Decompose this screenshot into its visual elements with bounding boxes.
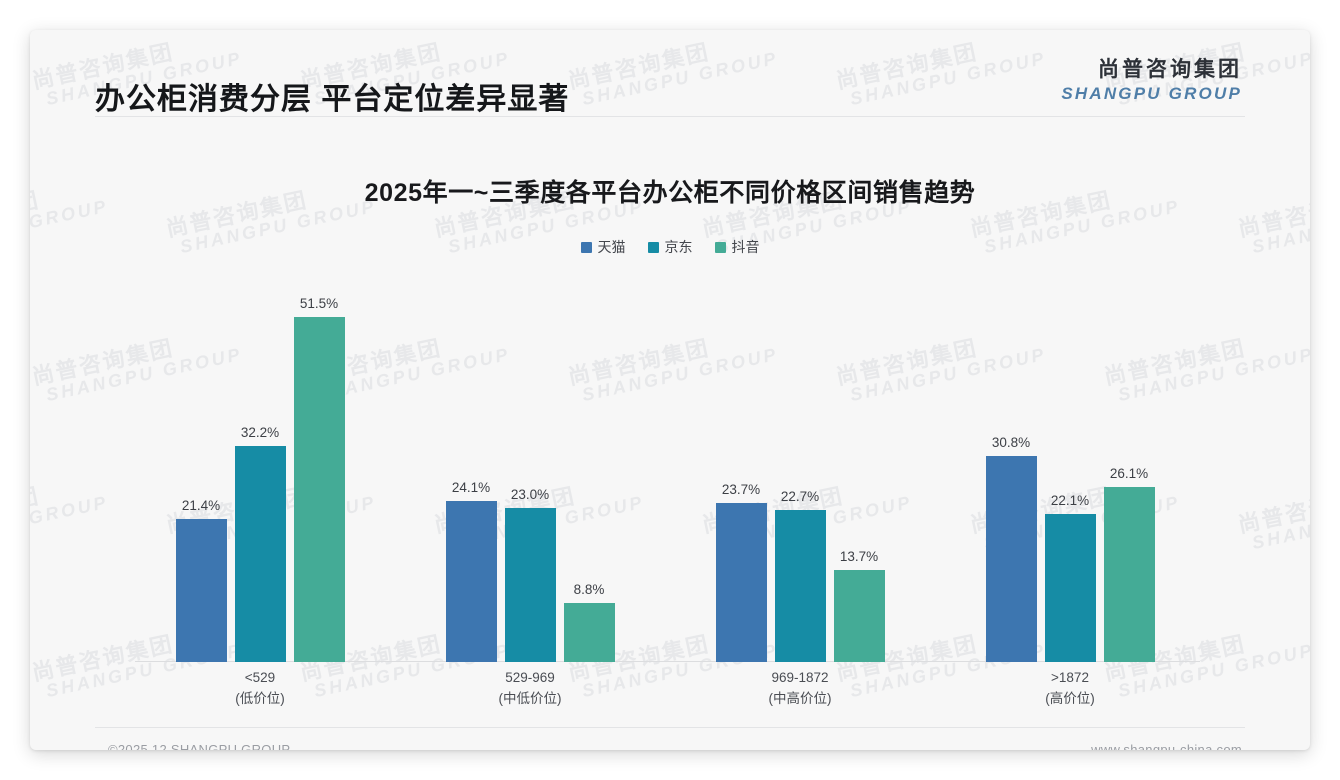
legend-label: 天猫: [598, 240, 626, 254]
chart-legend: 天猫京东抖音: [30, 240, 1310, 254]
bar-天猫[interactable]: [446, 501, 497, 663]
x-axis-label-sub: (中高价位): [665, 689, 935, 710]
bar-value-label: 26.1%: [1110, 466, 1148, 481]
x-axis-label-main: 969-1872: [771, 670, 828, 685]
x-axis-labels: <529(低价位)529-969(中低价位)969-1872(中高价位)>187…: [125, 668, 1205, 710]
bar-column[interactable]: 26.1%: [1104, 280, 1155, 662]
bar-column[interactable]: 23.7%: [716, 280, 767, 662]
x-axis-label-main: <529: [245, 670, 275, 685]
watermark-text: 尚普咨询集团SHANGPU GROUP: [1236, 470, 1310, 555]
bar-group-bars: 24.1%23.0%8.8%: [395, 280, 665, 662]
bar-column[interactable]: 24.1%: [446, 280, 497, 662]
bar-京东[interactable]: [1045, 514, 1096, 662]
legend-item-抖音[interactable]: 抖音: [715, 240, 760, 254]
slide-footer: ©2025.12 SHANGPU GROUP www.shangpu-china…: [30, 736, 1310, 750]
bar-column[interactable]: 21.4%: [176, 280, 227, 662]
header-divider: [95, 116, 1245, 117]
brand-name-en: SHANGPU GROUP: [1061, 84, 1242, 103]
bar-value-label: 13.7%: [840, 549, 878, 564]
footer-copyright: ©2025.12 SHANGPU GROUP: [108, 742, 290, 750]
bar-抖音[interactable]: [834, 570, 885, 662]
bar-value-label: 21.4%: [182, 498, 220, 513]
bar-group: 23.7%22.7%13.7%: [665, 280, 935, 662]
footer-divider: [95, 727, 1245, 728]
bar-抖音[interactable]: [1104, 487, 1155, 662]
bar-column[interactable]: 8.8%: [564, 280, 615, 662]
bar-group: 30.8%22.1%26.1%: [935, 280, 1205, 662]
legend-item-天猫[interactable]: 天猫: [581, 240, 626, 254]
x-axis-label-sub: (高价位): [935, 689, 1205, 710]
legend-label: 京东: [665, 240, 693, 254]
bar-value-label: 23.0%: [511, 487, 549, 502]
page-title: 办公柜消费分层 平台定位差异显著: [95, 74, 569, 118]
x-axis-label-sub: (低价位): [125, 689, 395, 710]
bar-group-bars: 30.8%22.1%26.1%: [935, 280, 1205, 662]
bar-抖音[interactable]: [294, 317, 345, 662]
x-axis-label: >1872(高价位): [935, 668, 1205, 710]
bar-天猫[interactable]: [986, 456, 1037, 662]
x-axis-label: 529-969(中低价位): [395, 668, 665, 710]
bar-京东[interactable]: [775, 510, 826, 662]
chart-plot-area: 21.4%32.2%51.5%24.1%23.0%8.8%23.7%22.7%1…: [125, 280, 1205, 662]
bar-column[interactable]: 23.0%: [505, 280, 556, 662]
bar-value-label: 24.1%: [452, 480, 490, 495]
bar-column[interactable]: 30.8%: [986, 280, 1037, 662]
bar-天猫[interactable]: [176, 519, 227, 662]
bar-value-label: 22.7%: [781, 489, 819, 504]
bar-column[interactable]: 13.7%: [834, 280, 885, 662]
bar-group: 21.4%32.2%51.5%: [125, 280, 395, 662]
bar-groups: 21.4%32.2%51.5%24.1%23.0%8.8%23.7%22.7%1…: [125, 280, 1205, 662]
x-axis-label-main: 529-969: [505, 670, 555, 685]
legend-swatch-icon: [715, 242, 726, 253]
chart-title: 2025年一~三季度各平台办公柜不同价格区间销售趋势: [30, 173, 1310, 209]
bar-value-label: 30.8%: [992, 435, 1030, 450]
slide-card: 尚普咨询集团SHANGPU GROUP尚普咨询集团SHANGPU GROUP尚普…: [30, 30, 1310, 750]
bar-京东[interactable]: [235, 446, 286, 662]
bar-天猫[interactable]: [716, 503, 767, 662]
x-axis-label-sub: (中低价位): [395, 689, 665, 710]
legend-swatch-icon: [581, 242, 592, 253]
bar-column[interactable]: 22.1%: [1045, 280, 1096, 662]
bar-value-label: 32.2%: [241, 425, 279, 440]
bar-column[interactable]: 22.7%: [775, 280, 826, 662]
x-axis-label: <529(低价位): [125, 668, 395, 710]
bar-group-bars: 23.7%22.7%13.7%: [665, 280, 935, 662]
slide-header: 办公柜消费分层 平台定位差异显著 尚普咨询集团 SHANGPU GROUP: [30, 30, 1310, 118]
footer-website: www.shangpu-china.com: [1091, 742, 1242, 750]
bar-column[interactable]: 51.5%: [294, 280, 345, 662]
x-axis-label: 969-1872(中高价位): [665, 668, 935, 710]
bar-value-label: 22.1%: [1051, 493, 1089, 508]
x-axis-label-main: >1872: [1051, 670, 1089, 685]
bar-抖音[interactable]: [564, 603, 615, 662]
bar-column[interactable]: 32.2%: [235, 280, 286, 662]
brand-logo: 尚普咨询集团 SHANGPU GROUP: [1061, 58, 1242, 103]
legend-label: 抖音: [732, 240, 760, 254]
watermark-text: 尚普咨询集团SHANGPU GROUP: [30, 470, 110, 555]
legend-swatch-icon: [648, 242, 659, 253]
bar-group-bars: 21.4%32.2%51.5%: [125, 280, 395, 662]
bar-group: 24.1%23.0%8.8%: [395, 280, 665, 662]
bar-value-label: 23.7%: [722, 482, 760, 497]
bar-value-label: 51.5%: [300, 296, 338, 311]
legend-item-京东[interactable]: 京东: [648, 240, 693, 254]
brand-name-cn: 尚普咨询集团: [1061, 58, 1242, 82]
bar-京东[interactable]: [505, 508, 556, 662]
bar-value-label: 8.8%: [574, 582, 605, 597]
